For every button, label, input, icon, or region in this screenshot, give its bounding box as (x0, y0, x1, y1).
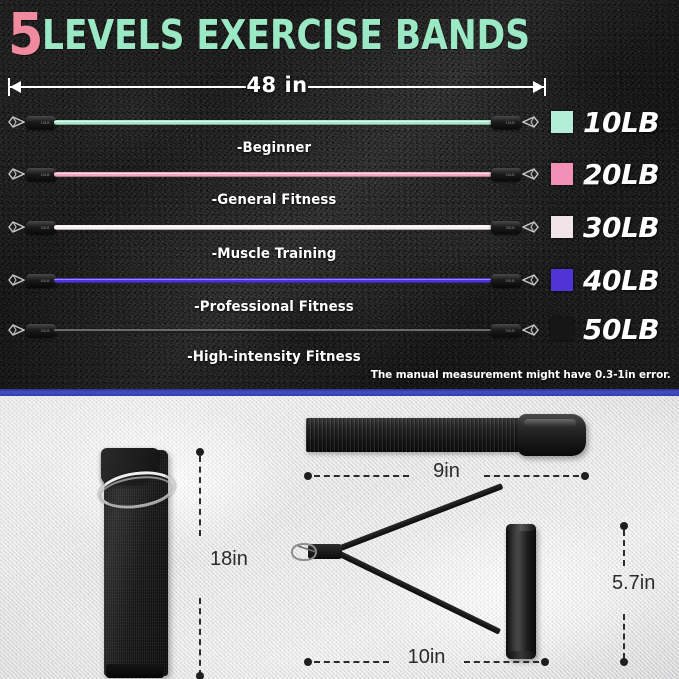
band-end-cap-right: 30LB (491, 221, 521, 234)
band-end-cap-right: 50LB (491, 324, 521, 337)
band-end-cap-right: 10LB (491, 116, 521, 129)
band-weight-label: 30LB (583, 211, 659, 244)
carabiner-clip-right-icon (522, 220, 539, 234)
dimension-line-upper (199, 456, 201, 536)
handle-image (294, 524, 594, 664)
band-row: 40LB 40LB 40LB (0, 268, 679, 292)
handle-foam-grip (506, 524, 536, 659)
band-tube (54, 329, 493, 333)
ankle-strap-image (104, 450, 168, 676)
dimension-line-upper (623, 530, 625, 566)
dimension-dot-bottom (620, 658, 628, 666)
measurement-disclaimer: The manual measurement might have 0.3-1i… (371, 368, 671, 381)
product-infographic: 5 LEVELS EXERCISE BANDS 48 in 10LB 10LB (0, 0, 679, 679)
dimension-dot-top (620, 522, 628, 530)
dimension-label: 10in (304, 646, 549, 669)
carabiner-clip-left-icon (8, 323, 25, 337)
color-swatch (551, 216, 573, 238)
band-length-dimension: 48 in (8, 77, 546, 99)
band-description: -Professional Fitness (22, 299, 526, 315)
dimension-label: 5.7in (612, 572, 655, 595)
carabiner-clip-left-icon (8, 167, 25, 181)
door-anchor-block (518, 414, 586, 456)
carabiner-clip-left-icon (8, 273, 25, 287)
band-tube (54, 120, 493, 125)
color-swatch (551, 111, 573, 133)
band-row: 10LB 10LB 10LB (0, 110, 679, 134)
dimension-dot-top (196, 448, 204, 456)
title-number: 5 (8, 10, 42, 59)
band-description: -High-intensity Fitness (22, 349, 526, 365)
band-row: 30LB 30LB 30LB (0, 215, 679, 239)
page-title: 5 LEVELS EXERCISE BANDS (8, 10, 623, 59)
band-graphic: 40LB 40LB (8, 268, 539, 292)
dimension-line-lower (199, 598, 201, 676)
band-graphic: 50LB 50LB (8, 318, 539, 342)
band-graphic: 20LB 20LB (8, 162, 539, 186)
band-tube (54, 225, 493, 230)
band-end-cap-left: 40LB (26, 274, 56, 287)
band-end-cap-left: 20LB (26, 168, 56, 181)
band-description: -Beginner (22, 140, 526, 156)
title-text: LEVELS EXERCISE BANDS (42, 15, 530, 56)
band-end-cap-right: 40LB (491, 274, 521, 287)
carabiner-clip-right-icon (522, 167, 539, 181)
band-row: 20LB 20LB 20LB (0, 162, 679, 186)
carabiner-clip-left-icon (8, 115, 25, 129)
bands-panel: 5 LEVELS EXERCISE BANDS 48 in 10LB 10LB (0, 0, 679, 390)
carabiner-clip-right-icon (522, 115, 539, 129)
band-description: -Muscle Training (22, 246, 526, 262)
band-graphic: 30LB 30LB (8, 215, 539, 239)
band-row: 50LB 50LB 50LB (0, 318, 679, 342)
section-divider (0, 389, 679, 396)
door-anchor-image (306, 414, 586, 456)
band-end-cap-left: 30LB (26, 221, 56, 234)
band-weight-label: 50LB (583, 313, 659, 346)
door-anchor-strap (306, 418, 526, 452)
band-description: -General Fitness (22, 192, 526, 208)
handle-strap-lower (337, 550, 501, 634)
band-tube (54, 278, 493, 283)
band-end-cap-right: 20LB (491, 168, 521, 181)
dimension-dot-bottom (196, 672, 204, 679)
accessories-panel: 18in 9in (0, 396, 679, 679)
band-weight-label: 10LB (583, 106, 659, 139)
color-swatch (551, 269, 573, 291)
handle-carabiner-icon (290, 542, 320, 562)
dimension-label: 48 in (8, 73, 546, 97)
color-swatch (551, 318, 573, 340)
carabiner-clip-right-icon (522, 273, 539, 287)
band-end-cap-left: 50LB (26, 324, 56, 337)
dimension-label: 18in (210, 548, 248, 571)
band-weight-label: 20LB (583, 158, 659, 191)
ankle-strap-tip (106, 664, 164, 678)
carabiner-clip-right-icon (522, 323, 539, 337)
band-graphic: 10LB 10LB (8, 110, 539, 134)
dimension-label: 9in (304, 460, 589, 483)
carabiner-clip-left-icon (8, 220, 25, 234)
band-end-cap-left: 10LB (26, 116, 56, 129)
color-swatch (551, 163, 573, 185)
dimension-line-lower (623, 614, 625, 659)
band-tube (54, 172, 493, 177)
band-weight-label: 40LB (583, 264, 659, 297)
